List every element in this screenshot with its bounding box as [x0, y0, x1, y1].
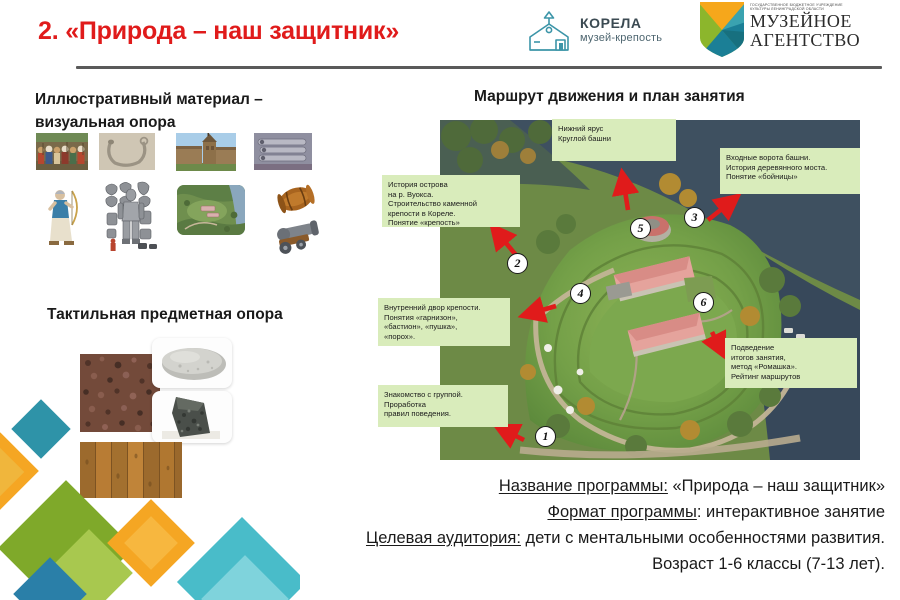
tactile-wood-planks-sample: [80, 442, 182, 498]
logo-korela: КОРЕЛА музей-крепость: [520, 8, 680, 56]
target-audience-line: Целевая аудитория: дети с ментальными ос…: [255, 525, 885, 551]
map-marker-5[interactable]: 5: [630, 218, 651, 239]
target-audience-value: дети с ментальными особенностями развити…: [521, 529, 885, 547]
slide-root: 2. «Природа – наш защитник» КОРЕЛА музей…: [0, 0, 900, 600]
tactile-smooth-stone-sample: [152, 338, 232, 388]
header-divider: [76, 66, 882, 69]
visual-material-heading-line1: Иллюстративный материал –: [35, 88, 365, 111]
age-range-line: Возраст 1-6 классы (7-13 лет).: [255, 551, 885, 577]
thumb-archer-illustration: [42, 185, 86, 247]
thumb-knight-armour-illustration: [104, 181, 162, 251]
target-audience-label: Целевая аудитория:: [366, 529, 521, 547]
thumb-cannon-illustration: [272, 216, 324, 254]
visual-material-heading: Иллюстративный материал – визуальная опо…: [35, 88, 365, 134]
route-plan-heading: Маршрут движения и план занятия: [474, 88, 745, 106]
tactile-granite-rough-sample: [80, 354, 160, 432]
agency-name-line2: АГЕНТСТВО: [750, 31, 860, 50]
agency-name-line1: МУЗЕЙНОЕ: [750, 12, 860, 31]
map-marker-2[interactable]: 2: [507, 253, 528, 274]
map-marker-4[interactable]: 4: [570, 283, 591, 304]
program-format-line: Формат программы: интерактивное занятие: [255, 499, 885, 525]
map-marker-1[interactable]: 1: [535, 426, 556, 447]
callout-lower-tier: Нижний ярус Круглой башни: [552, 119, 676, 161]
program-name-label: Название программы:: [499, 477, 668, 495]
program-name-value: «Природа – наш защитник»: [668, 477, 885, 495]
program-format-value: : интерактивное занятие: [697, 503, 885, 521]
program-format-label: Формат программы: [547, 503, 696, 521]
thumbnail-grid: [36, 133, 366, 273]
thumb-barrel-illustration: [276, 183, 316, 215]
map-marker-3[interactable]: 3: [684, 207, 705, 228]
program-summary: Название программы: «Природа – наш защит…: [255, 473, 885, 577]
callout-courtyard: Внутренний двор крепости. Понятия «гарни…: [378, 298, 510, 346]
thumb-reenactors-photo: [36, 133, 88, 170]
page-title: 2. «Природа – наш защитник»: [38, 17, 399, 46]
thumb-cannon-barrels-photo: [254, 133, 312, 170]
logo-korela-name: КОРЕЛА: [580, 16, 662, 31]
thumb-wooden-fortress-tower-photo: [176, 133, 236, 171]
program-name-line: Название программы: «Природа – наш защит…: [255, 473, 885, 499]
callout-island: История острова на р. Вуокса. Строительс…: [382, 175, 520, 227]
visual-material-heading-line2: визуальная опора: [35, 111, 365, 134]
callout-intro: Знакомство с группой. Проработка правил …: [378, 385, 508, 427]
callout-summary: Подведение итогов занятия, метод «Ромашк…: [725, 338, 857, 388]
callout-gates: Входные ворота башни. История деревянног…: [720, 148, 860, 194]
thumb-torc-necklace-photo: [99, 133, 155, 170]
logo-museum-agency: ГОСУДАРСТВЕННОЕ БЮДЖЕТНОЕ УЧРЕЖДЕНИЕ КУЛ…: [698, 2, 893, 58]
thumb-fortress-aerial-photo: [177, 185, 245, 235]
route-map-panel: Нижний ярус Круглой башни Входные ворота…: [440, 120, 860, 460]
map-marker-6[interactable]: 6: [693, 292, 714, 313]
tactile-support-heading: Тактильная предметная опора: [47, 306, 283, 324]
logo-korela-subtitle: музей-крепость: [580, 32, 662, 45]
tactile-dark-granite-sample: [152, 391, 232, 443]
